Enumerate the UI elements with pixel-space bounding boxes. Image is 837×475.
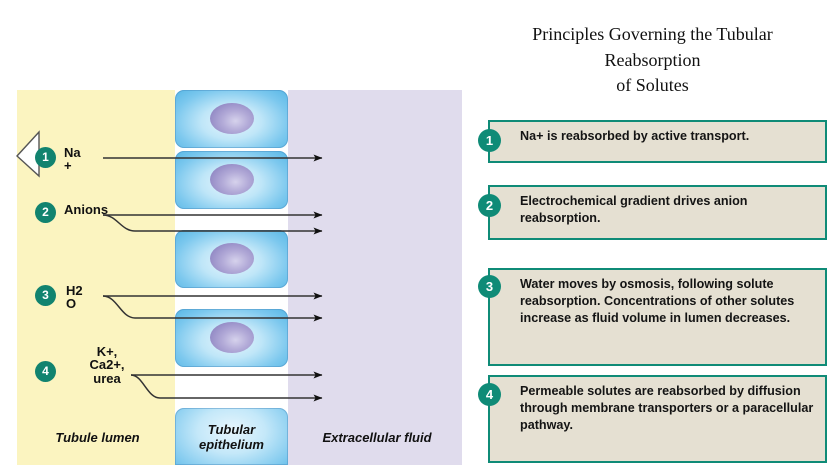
zone-label-extracellular-fluid: Extracellular fluid	[293, 431, 461, 446]
principle-box-2[interactable]: Electrochemical gradient drives anion re…	[488, 185, 827, 240]
principle-box-3[interactable]: Water moves by osmosis, following solute…	[488, 268, 827, 366]
title-line-1: Principles Governing the Tubular	[468, 22, 837, 48]
principle-text-3: Water moves by osmosis, following solute…	[490, 270, 825, 333]
diagram-marker-3: 3	[35, 285, 56, 306]
transport-arrows	[17, 90, 462, 465]
principle-marker-4: 4	[478, 383, 501, 406]
diagram-marker-2: 2	[35, 202, 56, 223]
principle-marker-1: 1	[478, 129, 501, 152]
principle-text-2: Electrochemical gradient drives anion re…	[490, 187, 825, 233]
principle-box-4[interactable]: Permeable solutes are reabsorbed by diff…	[488, 375, 827, 463]
diagram-label-water: H2 O	[66, 284, 83, 311]
slide-canvas: Principles Governing the Tubular Reabsor…	[0, 0, 837, 475]
principle-text-1: Na+ is reabsorbed by active transport.	[490, 122, 825, 151]
diagram-marker-1: 1	[35, 147, 56, 168]
principle-box-1[interactable]: Na+ is reabsorbed by active transport.	[488, 120, 827, 163]
title-line-3: of Solutes	[468, 73, 837, 99]
principle-text-4: Permeable solutes are reabsorbed by diff…	[490, 377, 825, 440]
title-line-2: Reabsorption	[468, 48, 837, 74]
diagram-marker-4: 4	[35, 361, 56, 382]
tubular-reabsorption-diagram: 1 Na + 2 Anions 3 H2 O 4 K+, Ca2+, urea …	[17, 90, 462, 465]
page-title: Principles Governing the Tubular Reabsor…	[468, 22, 837, 99]
diagram-label-anions: Anions	[64, 203, 108, 216]
zone-label-tubular-epithelium: Tubular epithelium	[175, 423, 288, 452]
diagram-label-permeable-solutes: K+, Ca2+, urea	[77, 345, 137, 385]
principle-marker-2: 2	[478, 194, 501, 217]
zone-label-tubule-lumen: Tubule lumen	[25, 431, 170, 446]
principle-marker-3: 3	[478, 275, 501, 298]
diagram-label-sodium: Na +	[64, 146, 81, 173]
